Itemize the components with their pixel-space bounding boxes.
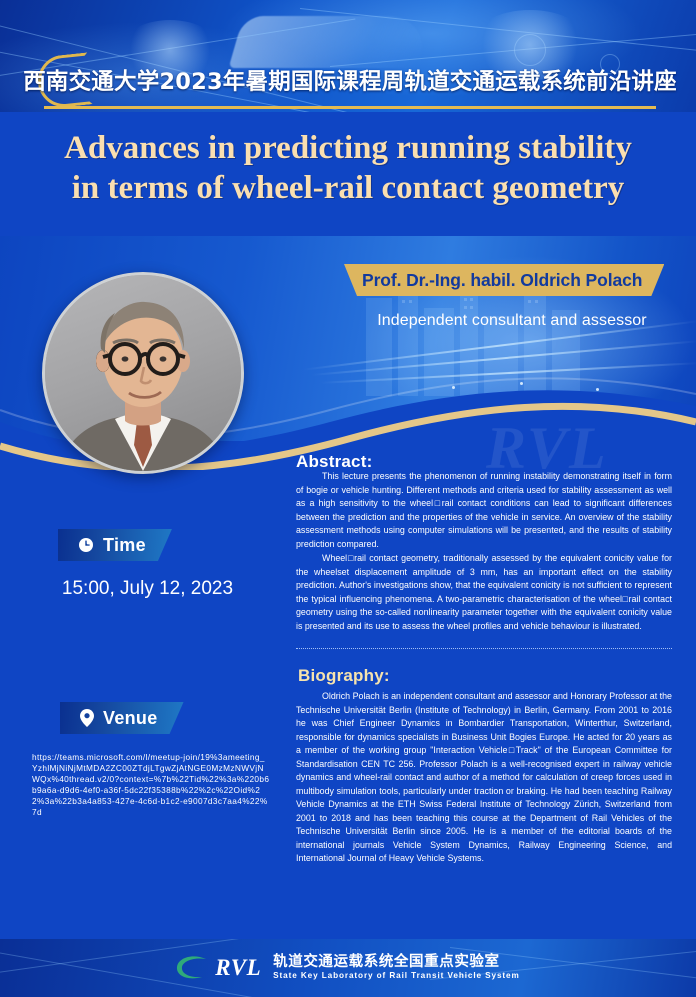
abstract-paragraph: Wheel□rail contact geometry, traditional… bbox=[296, 552, 672, 633]
biography-body: Oldrich Polach is an independent consult… bbox=[296, 690, 672, 866]
chinese-header-text: 西南交通大学2023年暑期国际课程周轨道交通运载系统前沿讲座 bbox=[23, 64, 677, 96]
biography-paragraph: Oldrich Polach is an independent consult… bbox=[296, 690, 672, 866]
lab-names: 轨道交通运载系统全国重点实验室 State Key Laboratory of … bbox=[273, 955, 520, 982]
abstract-paragraph: This lecture presents the phenomenon of … bbox=[296, 470, 672, 551]
abstract-body: This lecture presents the phenomenon of … bbox=[296, 470, 672, 633]
lab-name-chinese: 轨道交通运载系统全国重点实验室 bbox=[273, 955, 520, 971]
lecture-title-line-2: in terms of wheel-rail contact geometry bbox=[28, 168, 668, 208]
abstract-heading: Abstract: bbox=[296, 452, 372, 472]
venue-badge: Venue bbox=[60, 702, 184, 734]
speaker-portrait bbox=[42, 272, 244, 474]
lecture-title-line-1: Advances in predicting running stability bbox=[64, 130, 632, 166]
footer-bar: RVL 轨道交通运载系统全国重点实验室 State Key Laboratory… bbox=[0, 939, 696, 997]
gold-divider-rule bbox=[44, 106, 656, 109]
venue-badge-label: Venue bbox=[103, 708, 158, 729]
lab-name-english: State Key Laboratory of Rail Transit Veh… bbox=[273, 972, 520, 981]
biography-heading: Biography: bbox=[298, 666, 390, 686]
chinese-header-title: 西南交通大学2023年暑期国际课程周轨道交通运载系统前沿讲座 bbox=[45, 58, 655, 102]
rvl-swoosh-icon bbox=[176, 955, 210, 981]
time-badge-label: Time bbox=[103, 535, 146, 556]
section-divider bbox=[296, 648, 672, 649]
portrait-illustration bbox=[45, 275, 241, 471]
time-badge: Time bbox=[58, 529, 172, 561]
clock-icon bbox=[78, 537, 94, 553]
venue-meeting-url[interactable]: https://teams.microsoft.com/l/meetup-joi… bbox=[32, 752, 270, 818]
lecture-poster: 西南交通大学2023年暑期国际课程周轨道交通运载系统前沿讲座 Advances … bbox=[0, 0, 696, 997]
location-pin-icon bbox=[80, 709, 94, 727]
time-value: 15:00, July 12, 2023 bbox=[20, 578, 275, 600]
rvl-logo: RVL bbox=[176, 955, 261, 981]
lecture-title: Advances in predicting running stability… bbox=[28, 128, 668, 209]
footer-content: RVL 轨道交通运载系统全国重点实验室 State Key Laboratory… bbox=[0, 939, 696, 997]
speaker-role: Independent consultant and assessor bbox=[352, 312, 672, 330]
rvl-logo-text: RVL bbox=[215, 955, 261, 981]
speaker-name: Prof. Dr.-Ing. habil. Oldrich Polach bbox=[362, 270, 642, 291]
speaker-name-banner: Prof. Dr.-Ing. habil. Oldrich Polach bbox=[344, 264, 664, 296]
